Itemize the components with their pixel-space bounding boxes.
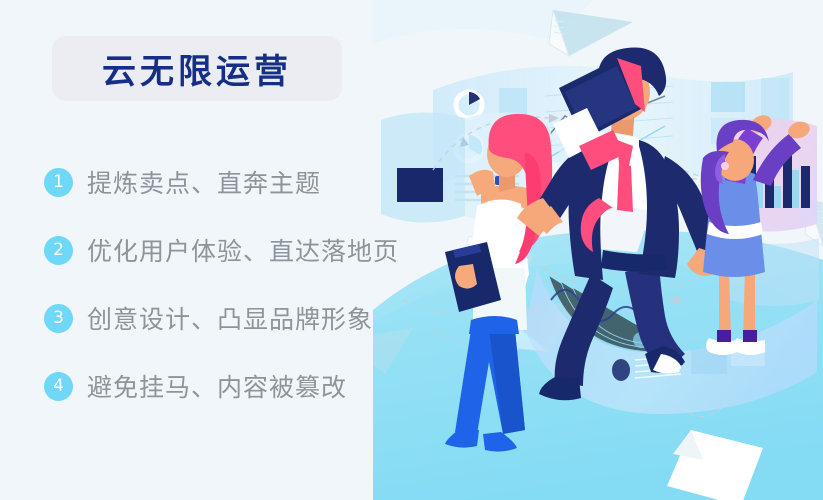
feature-number-badge-1: 1	[44, 168, 73, 197]
feature-number-badge-4: 4	[44, 372, 73, 401]
feature-item-2: 2 优化用户体验、直达落地页	[44, 216, 444, 284]
text-column: 云无限运营 1 提炼卖点、直奔主题 2 优化用户体验、直达落地页 3 创意设计、…	[0, 0, 440, 500]
feature-item-4: 4 避免挂马、内容被篡改	[44, 352, 444, 420]
feature-number-badge-3: 3	[44, 304, 73, 333]
feature-label-1: 提炼卖点、直奔主题	[87, 164, 321, 200]
page-title: 云无限运营	[102, 44, 292, 93]
feature-number-badge-2: 2	[44, 236, 73, 265]
feature-item-3: 3 创意设计、凸显品牌形象	[44, 284, 444, 352]
promo-banner: 云无限运营 1 提炼卖点、直奔主题 2 优化用户体验、直达落地页 3 创意设计、…	[0, 0, 823, 500]
feature-label-4: 避免挂马、内容被篡改	[87, 368, 347, 404]
feature-label-3: 创意设计、凸显品牌形象	[87, 300, 373, 336]
feature-list: 1 提炼卖点、直奔主题 2 优化用户体验、直达落地页 3 创意设计、凸显品牌形象…	[44, 148, 444, 420]
feature-item-1: 1 提炼卖点、直奔主题	[44, 148, 444, 216]
feature-label-2: 优化用户体验、直达落地页	[87, 232, 399, 268]
title-badge: 云无限运营	[52, 36, 342, 101]
